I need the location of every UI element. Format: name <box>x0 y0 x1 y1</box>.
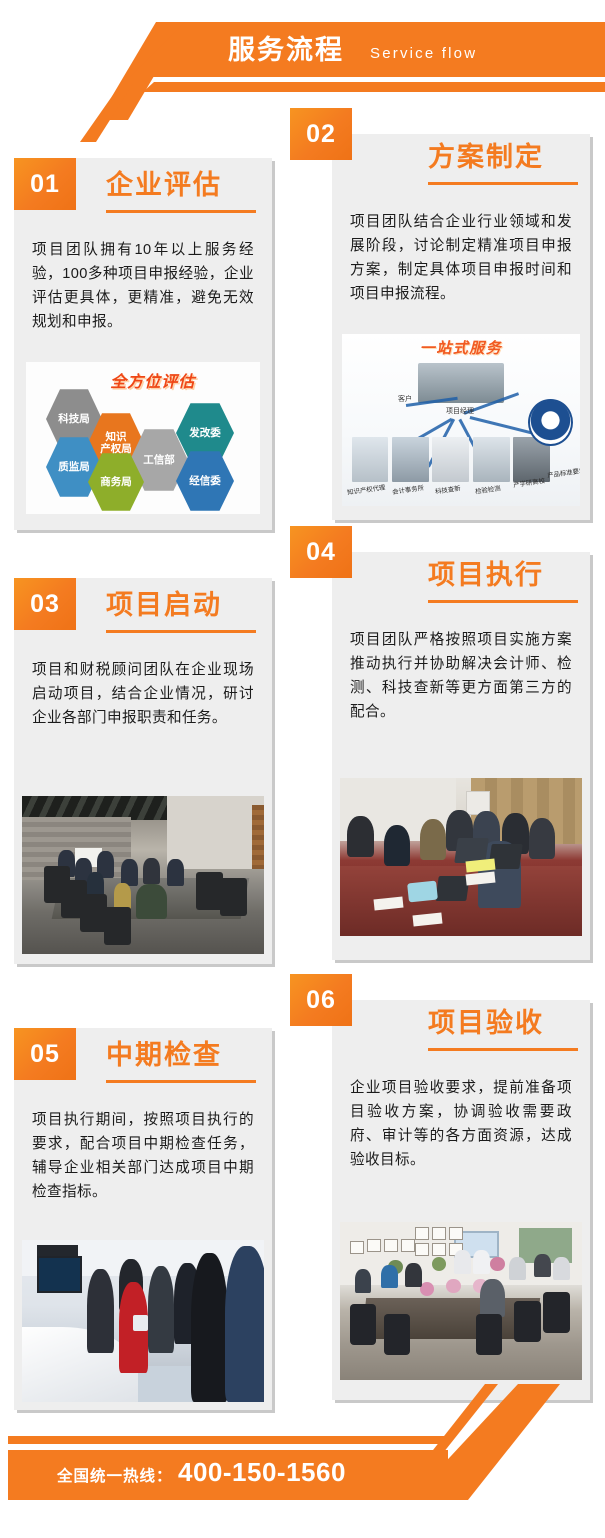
iso-seal-label: ISO <box>544 417 558 426</box>
title-underline-03 <box>106 630 256 633</box>
step-card-05: 05 中期检查 项目执行期间，按照项目执行的要求，配合项目中期检查任务，辅导企业… <box>14 1028 272 1410</box>
infographic-page: 服务流程 Service flow 01 企业评估 项目团队拥有10年以上服务经… <box>0 0 605 1538</box>
title-underline-05 <box>106 1080 256 1083</box>
service-caption-testing: 检验检测 <box>475 484 502 496</box>
title-underline-02 <box>428 182 578 185</box>
step-body-05: 项目执行期间，按照项目执行的要求，配合项目中期检查任务，辅导企业相关部门达成项目… <box>32 1108 254 1204</box>
step-card-03: 03 项目启动 项目和财税顾问团队在企业现场启动项目，结合企业情况，研讨企业各部… <box>14 578 272 964</box>
step-card-06: 06 项目验收 企业项目验收要求，提前准备项目验收方案，协调验收需要政府、审计等… <box>332 1000 590 1400</box>
iso-seal-icon: ISO <box>528 399 572 446</box>
service-caption-novelty: 科技查新 <box>434 484 461 496</box>
service-caption-accounting: 会计事务所 <box>391 483 424 496</box>
step-number-05: 05 <box>14 1028 76 1080</box>
hotline-label: 全国统一热线： <box>57 1464 173 1486</box>
step-title-03: 项目启动 <box>106 588 222 622</box>
page-header: 服务流程 Service flow <box>0 0 605 120</box>
hex-diagram-image: 全方位评估 科技局 知识产权局 质监局 工信部 商务局 发改委 经信委 <box>26 362 260 514</box>
step-body-03: 项目和财税顾问团队在企业现场启动项目，结合企业情况，研讨企业各部门申报职责和任务… <box>32 658 254 730</box>
step-title-04: 项目执行 <box>428 558 544 592</box>
step-body-02: 项目团队结合企业行业领域和发展阶段，讨论制定精准项目申报方案，制定具体项目申报时… <box>350 210 572 306</box>
step-title-02: 方案制定 <box>428 140 544 174</box>
service-node-customer: 客户 <box>398 394 412 404</box>
step-card-01: 01 企业评估 项目团队拥有10年以上服务经验，100多种项目申报经验，企业评估… <box>14 158 272 530</box>
service-thumb-testing <box>473 437 510 482</box>
footer-thin-bar <box>8 1436 448 1444</box>
page-subtitle: Service flow <box>370 42 477 66</box>
page-title: 服务流程 <box>228 32 344 68</box>
hex-diagram-title: 全方位评估 <box>110 368 195 392</box>
step-card-02: 02 方案制定 项目团队结合企业行业领域和发展阶段，讨论制定精准项目申报方案，制… <box>332 134 590 520</box>
photo-lobby-tour <box>22 1240 264 1402</box>
service-diagram-image: 一站式服务 客户 项目经理 知识产权代理 会计事 <box>342 334 580 506</box>
service-hero-photo <box>418 363 504 403</box>
step-card-04: 04 项目执行 项目团队严格按照项目实施方案推动执行并协助解决会计师、检测、科技… <box>332 552 590 960</box>
header-underbar <box>143 82 605 92</box>
page-footer: 全国统一热线： 400-150-1560 <box>0 1430 605 1538</box>
step-title-05: 中期检查 <box>106 1038 222 1072</box>
title-underline-04 <box>428 600 578 603</box>
photo-meeting-laptops <box>340 778 582 936</box>
step-title-01: 企业评估 <box>106 168 222 202</box>
service-caption-standard: 产品标准要求 <box>546 466 580 480</box>
step-body-01: 项目团队拥有10年以上服务经验，100多种项目申报经验，企业评估更具体，更精准，… <box>32 238 254 334</box>
hotline-phone[interactable]: 400-150-1560 <box>178 1457 346 1488</box>
step-number-02: 02 <box>290 108 352 160</box>
service-thumb-accounting <box>392 437 429 482</box>
photo-conference-room <box>22 796 264 954</box>
service-node-manager: 项目经理 <box>446 406 474 416</box>
photo-boardroom <box>340 1222 582 1380</box>
step-number-04: 04 <box>290 526 352 578</box>
service-diagram-title: 一站式服务 <box>420 337 503 358</box>
step-body-06: 企业项目验收要求，提前准备项目验收方案，协调验收需要政府、审计等的各方面资源，达… <box>350 1076 572 1172</box>
step-number-01: 01 <box>14 158 76 210</box>
step-number-06: 06 <box>290 974 352 1026</box>
service-thumb-novelty <box>432 437 469 482</box>
step-title-06: 项目验收 <box>428 1006 544 1040</box>
header-bar <box>130 22 605 77</box>
step-number-03: 03 <box>14 578 76 630</box>
step-body-04: 项目团队严格按照项目实施方案推动执行并协助解决会计师、检测、科技查新等更方面第三… <box>350 628 572 724</box>
title-underline-01 <box>106 210 256 213</box>
service-thumb-ip <box>352 437 389 482</box>
service-caption-ip: 知识产权代理 <box>346 483 385 497</box>
title-underline-06 <box>428 1048 578 1051</box>
